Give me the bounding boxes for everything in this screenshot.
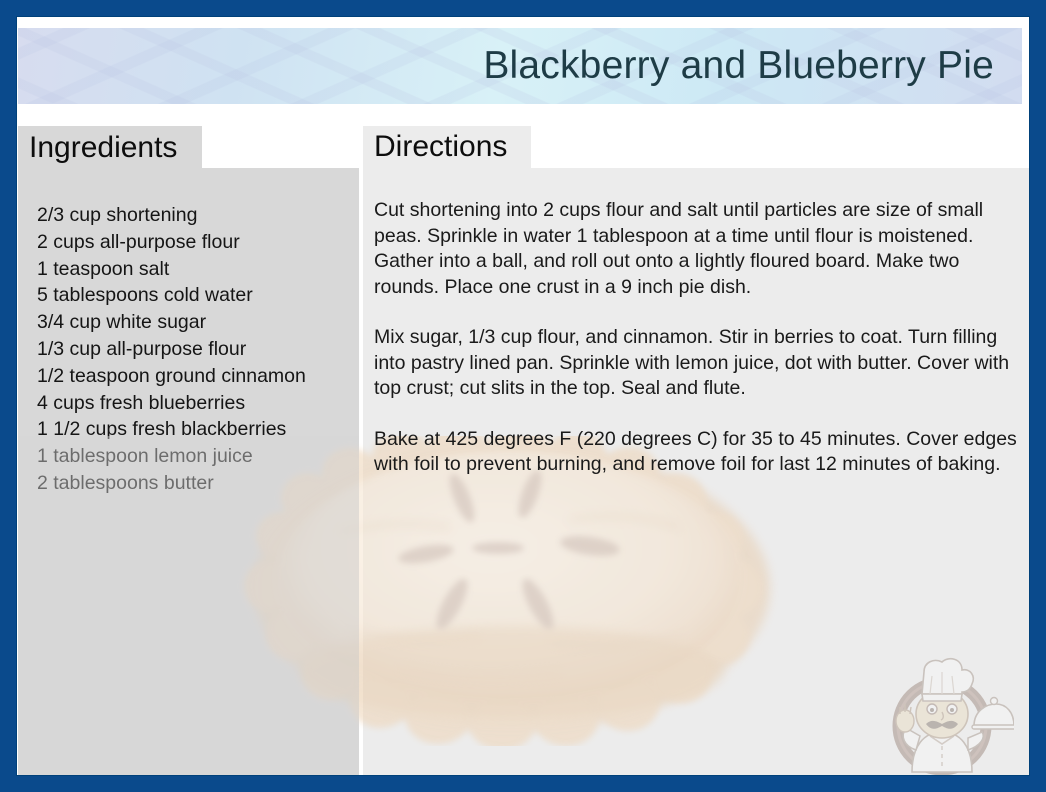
list-item: 4 cups fresh blueberries (37, 390, 357, 417)
list-item: 1/2 teaspoon ground cinnamon (37, 363, 357, 390)
list-item: 1 1/2 cups fresh blackberries (37, 416, 357, 443)
list-item: 3/4 cup white sugar (37, 309, 357, 336)
recipe-card: Blackberry and Blueberry Pie Ingredients… (0, 0, 1046, 792)
ingredients-list: 2/3 cup shortening 2 cups all-purpose fl… (37, 202, 357, 497)
list-item: 2/3 cup shortening (37, 202, 357, 229)
directions-text: Cut shortening into 2 cups flour and sal… (374, 198, 1022, 503)
title-banner: Blackberry and Blueberry Pie (18, 28, 1022, 104)
list-item: 5 tablespoons cold water (37, 282, 357, 309)
directions-paragraph: Mix sugar, 1/3 cup flour, and cinnamon. … (374, 325, 1022, 402)
list-item: 1/3 cup all-purpose flour (37, 336, 357, 363)
card-inner: Blackberry and Blueberry Pie Ingredients… (16, 16, 1030, 776)
directions-paragraph: Bake at 425 degrees F (220 degrees C) fo… (374, 427, 1022, 478)
directions-paragraph: Cut shortening into 2 cups flour and sal… (374, 198, 1022, 300)
list-item: 2 tablespoons butter (37, 470, 357, 497)
list-item: 1 teaspoon salt (37, 256, 357, 283)
page-title: Blackberry and Blueberry Pie (483, 44, 994, 88)
directions-heading: Directions (374, 127, 507, 167)
list-item: 1 tablespoon lemon juice (37, 443, 357, 470)
list-item: 2 cups all-purpose flour (37, 229, 357, 256)
ingredients-heading: Ingredients (29, 128, 177, 168)
